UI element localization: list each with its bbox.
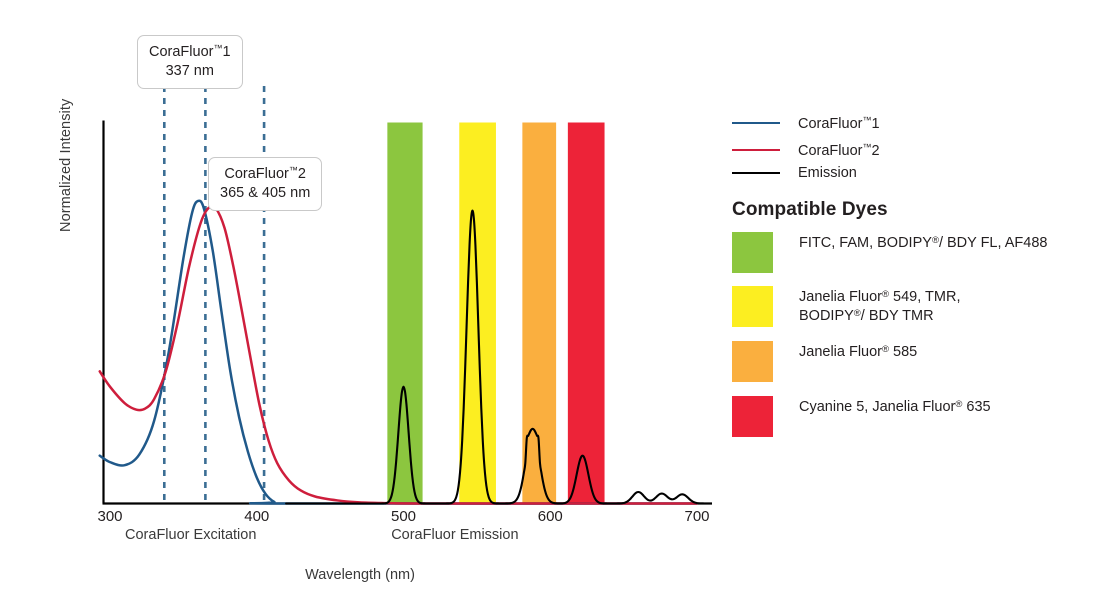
dye-row-1: FITC, FAM, BODIPY®/ BDY FL, AF488 — [732, 232, 1047, 273]
dye-label: Cyanine 5, Janelia Fluor® 635 — [799, 396, 991, 417]
dye-row-2: Janelia Fluor® 549, TMR,BODIPY®/ BDY TMR — [732, 286, 960, 327]
dye-label-suffix: / BDY FL, AF488 — [939, 235, 1048, 251]
x-tick-700: 700 — [684, 508, 709, 525]
legend-line-swatch — [732, 172, 780, 174]
legend-label-suffix: 2 — [871, 143, 879, 159]
corafluor2-callout-line2: 365 & 405 nm — [220, 184, 310, 203]
registered-trademark-icon: ® — [882, 289, 889, 300]
dye-label-line1: Janelia Fluor® 585 — [799, 343, 917, 362]
x-axis-title: Wavelength (nm) — [0, 567, 720, 583]
dye-label-text: FITC, FAM, BODIPY — [799, 235, 932, 251]
curve-emission — [286, 211, 709, 504]
dye-label-text: BODIPY — [799, 308, 854, 324]
dye-label-suffix: 549, TMR, — [889, 289, 960, 305]
x-tick-400: 400 — [244, 508, 269, 525]
corafluor2-callout: CoraFluor™2 365 & 405 nm — [208, 157, 322, 211]
legend-item-corafluor2: CoraFluor™2 — [732, 141, 880, 159]
dye-label: Janelia Fluor® 549, TMR,BODIPY®/ BDY TMR — [799, 286, 960, 326]
dye-label-text: Cyanine 5, Janelia Fluor — [799, 399, 955, 415]
corafluor1-callout-line1: CoraFluor™1 — [149, 44, 231, 60]
legend-label-text: CoraFluor — [798, 116, 862, 132]
dye-row-4: Cyanine 5, Janelia Fluor® 635 — [732, 396, 991, 437]
registered-trademark-icon: ® — [882, 344, 889, 355]
emission-region-label: CoraFluor Emission — [391, 527, 518, 543]
dye-color-swatch — [732, 286, 773, 327]
dye-label-suffix: 585 — [889, 344, 917, 360]
legend-item-corafluor1: CoraFluor™1 — [732, 114, 880, 132]
dye-label-text: Janelia Fluor — [799, 289, 882, 305]
dye-label-line2: BODIPY®/ BDY TMR — [799, 307, 960, 326]
legend-label-text: Emission — [798, 165, 857, 181]
registered-trademark-icon: ® — [932, 235, 939, 246]
x-tick-300: 300 — [97, 508, 122, 525]
legend-item-label: Emission — [798, 165, 857, 181]
x-tick-600: 600 — [538, 508, 563, 525]
corafluor1-callout: CoraFluor™1 337 nm — [137, 35, 243, 89]
dye-label-line1: Janelia Fluor® 549, TMR, — [799, 288, 960, 307]
corafluor1-callout-line2: 337 nm — [149, 62, 231, 81]
dye-color-swatch — [732, 396, 773, 437]
dye-color-swatch — [732, 232, 773, 273]
legend-item-label: CoraFluor™2 — [798, 142, 880, 159]
registered-trademark-icon: ® — [854, 308, 861, 319]
dye-label: FITC, FAM, BODIPY®/ BDY FL, AF488 — [799, 232, 1047, 253]
green-band — [387, 123, 422, 504]
legend-item-emission: Emission — [732, 164, 857, 182]
legend-label-suffix: 1 — [871, 116, 879, 132]
spectra-chart: Normalized Intensity 300400500600700 Cor… — [0, 0, 720, 612]
dye-label-suffix: / BDY TMR — [861, 308, 934, 324]
dye-label-suffix: 635 — [962, 399, 990, 415]
dye-row-3: Janelia Fluor® 585 — [732, 341, 917, 382]
dye-label-line1: Cyanine 5, Janelia Fluor® 635 — [799, 398, 991, 417]
dye-label-line1: FITC, FAM, BODIPY®/ BDY FL, AF488 — [799, 234, 1047, 253]
legend-line-swatch — [732, 122, 780, 124]
legend-item-label: CoraFluor™1 — [798, 115, 880, 132]
trademark-icon: ™ — [289, 165, 298, 175]
compatible-dyes-title: Compatible Dyes — [732, 199, 888, 221]
legend-panel: CoraFluor™1CoraFluor™2Emission Compatibl… — [728, 0, 1110, 612]
dye-label: Janelia Fluor® 585 — [799, 341, 917, 362]
corafluor2-callout-line1: CoraFluor™2 — [224, 166, 306, 182]
legend-line-swatch — [732, 149, 780, 151]
excitation-region-label: CoraFluor Excitation — [125, 527, 256, 543]
dye-label-text: Janelia Fluor — [799, 344, 882, 360]
x-tick-500: 500 — [391, 508, 416, 525]
dye-color-swatch — [732, 341, 773, 382]
figure-root: Normalized Intensity 300400500600700 Cor… — [0, 0, 1110, 612]
y-axis-title: Normalized Intensity — [58, 52, 74, 232]
legend-label-text: CoraFluor — [798, 143, 862, 159]
red-band — [568, 123, 605, 504]
